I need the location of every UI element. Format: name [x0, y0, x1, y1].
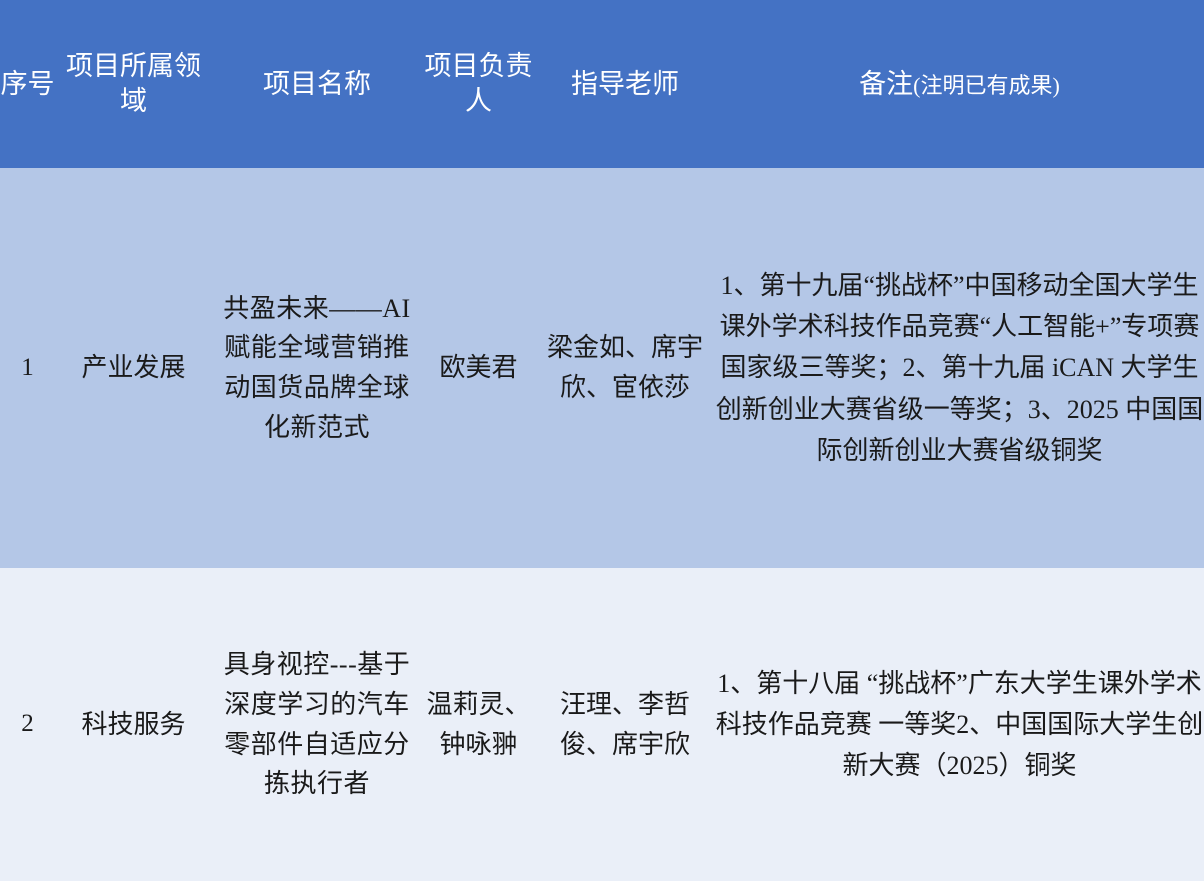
header-row: 序号 项目所属领域 项目名称 项目负责人 指导老师 备注(注明已有成果) [0, 0, 1204, 168]
cell-project-name: 共盈未来——AI 赋能全域营销推动国货品牌全球化新范式 [212, 168, 422, 568]
project-achievements-table: 序号 项目所属领域 项目名称 项目负责人 指导老师 备注(注明已有成果) 1 产… [0, 0, 1204, 881]
table-header: 序号 项目所属领域 项目名称 项目负责人 指导老师 备注(注明已有成果) [0, 0, 1204, 168]
table-row: 2 科技服务 具身视控---基于深度学习的汽车零部件自适应分拣执行者 温莉灵、钟… [0, 568, 1204, 881]
column-header-remark-main: 备注 [859, 69, 913, 99]
column-header-project-field: 项目所属领域 [55, 0, 212, 168]
table-body: 1 产业发展 共盈未来——AI 赋能全域营销推动国货品牌全球化新范式 欧美君 梁… [0, 168, 1204, 881]
cell-advisor: 梁金如、席宇欣、宦依莎 [535, 168, 715, 568]
column-header-project-name: 项目名称 [212, 0, 422, 168]
cell-project-name: 具身视控---基于深度学习的汽车零部件自适应分拣执行者 [212, 568, 422, 881]
cell-sequence: 1 [0, 168, 55, 568]
cell-project-leader: 温莉灵、钟咏翀 [422, 568, 535, 881]
cell-remark: 1、第十九届“挑战杯”中国移动全国大学生课外学术科技作品竞赛“人工智能+”专项赛… [715, 168, 1204, 568]
column-header-remark-sub: (注明已有成果) [913, 73, 1060, 98]
table-row: 1 产业发展 共盈未来——AI 赋能全域营销推动国货品牌全球化新范式 欧美君 梁… [0, 168, 1204, 568]
cell-sequence: 2 [0, 568, 55, 881]
cell-project-leader: 欧美君 [422, 168, 535, 568]
column-header-remark: 备注(注明已有成果) [715, 0, 1204, 168]
cell-project-field: 科技服务 [55, 568, 212, 881]
cell-project-field: 产业发展 [55, 168, 212, 568]
column-header-project-leader: 项目负责人 [422, 0, 535, 168]
column-header-advisor: 指导老师 [535, 0, 715, 168]
project-table-container: 序号 项目所属领域 项目名称 项目负责人 指导老师 备注(注明已有成果) 1 产… [0, 0, 1204, 893]
column-header-sequence: 序号 [0, 0, 55, 168]
cell-remark: 1、第十八届 “挑战杯”广东大学生课外学术科技作品竞赛 一等奖2、中国国际大学生… [715, 568, 1204, 881]
cell-advisor: 汪理、李哲俊、席宇欣 [535, 568, 715, 881]
